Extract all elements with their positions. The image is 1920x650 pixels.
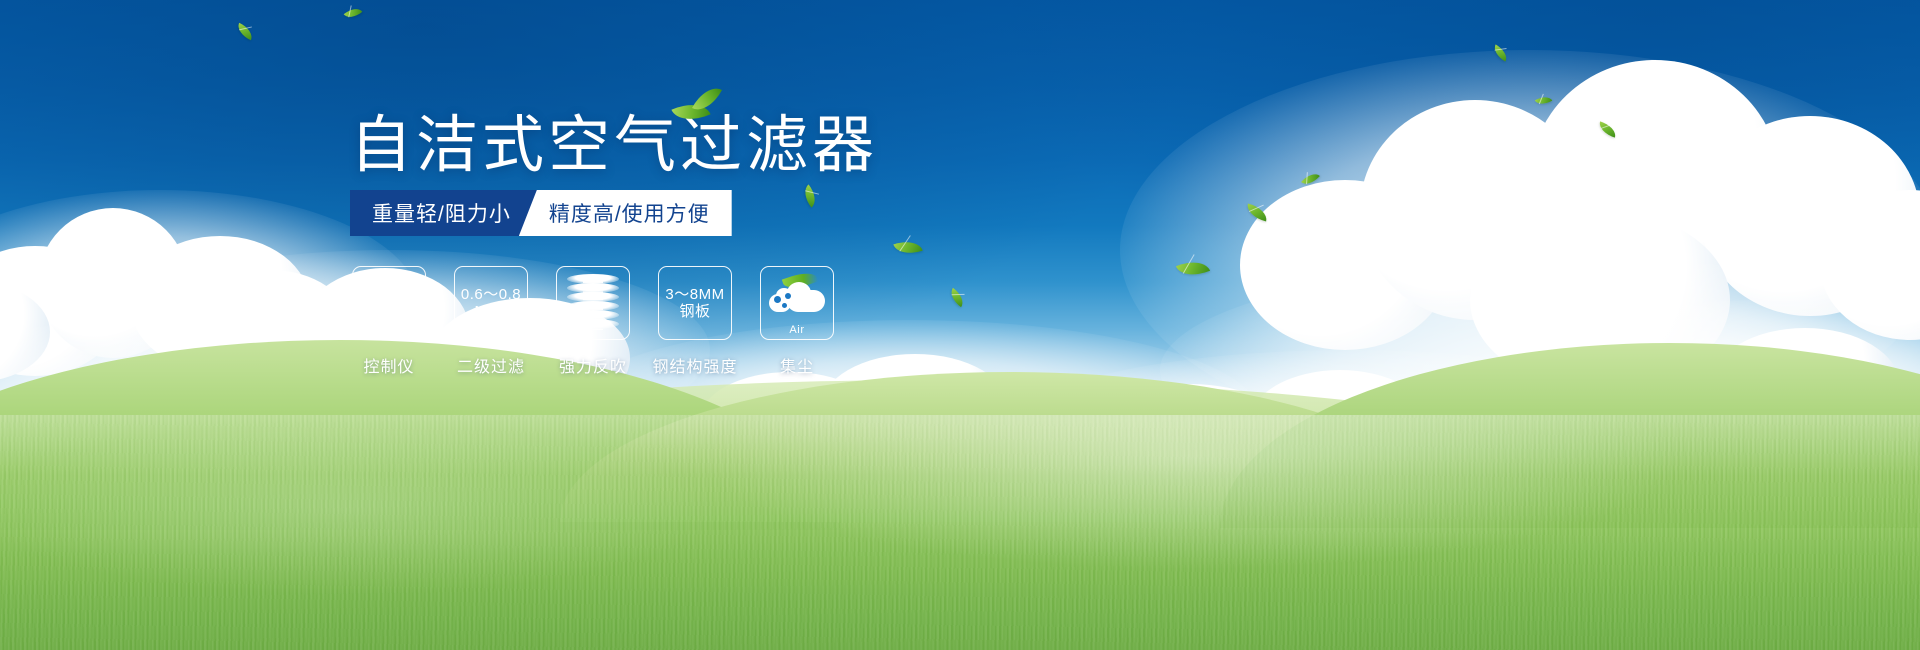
badge-weight-resistance[interactable]: 重量轻/阻力小 [350,190,537,236]
page-title: 自洁式空气过滤器 [350,115,878,177]
gauge-label-off: OFF [407,325,420,331]
feature-item-pressure[interactable]: 0.6～0.8 MPA 二级过滤 [452,266,530,377]
gauge-label-no: NO [359,311,369,317]
filter-cartridge-icon [567,274,619,332]
feature-icon-box: 0.6～0.8 MPA [454,266,528,340]
feature-item-steel[interactable]: 3～8MM 钢板 钢结构强度 [656,266,734,377]
feature-caption: 强力反吹 [559,353,627,377]
badge-precision-convenience[interactable]: 精度高/使用方便 [519,190,732,236]
badge-label: 重量轻/阻力小 [372,198,511,228]
badge-label: 精度高/使用方便 [549,198,710,228]
cloud-air-icon: Air [767,276,827,330]
feature-item-dust[interactable]: Air 集尘 [758,266,836,377]
feature-icon-box: 3～8MM 钢板 [658,266,732,340]
steel-material: 钢板 [665,303,724,320]
title-leaf-icon [672,88,732,132]
feature-icon-box: Air [760,266,834,340]
banner-content: 自洁式空气过滤器 重量轻/阻力小 精度高/使用方便 [0,0,1920,650]
feature-item-controller[interactable]: NO OFF 控制仪 [350,266,428,377]
pressure-text-icon: 0.6～0.8 MPA [461,286,521,320]
steel-plate-text-icon: 3～8MM 钢板 [665,286,724,320]
steel-thickness: 3～8MM [665,286,724,303]
feature-item-backblow[interactable]: 强力反吹 [554,266,632,377]
feature-icon-box: NO OFF [352,266,426,340]
feature-caption: 钢结构强度 [653,353,738,377]
feature-icon-box [556,266,630,340]
pressure-value: 0.6～0.8 [461,286,521,303]
air-label: Air [767,324,827,336]
pressure-unit: MPA [461,303,521,320]
feature-caption: 二级过滤 [457,353,525,377]
feature-caption: 控制仪 [363,353,414,377]
feature-caption: 集尘 [780,353,814,377]
tagline-badges: 重量轻/阻力小 精度高/使用方便 [350,190,732,236]
gauge-dial-icon: NO OFF [360,274,418,332]
feature-list: NO OFF 控制仪 0.6～0.8 MPA 二级过滤 [350,266,836,377]
hero-banner: 自洁式空气过滤器 重量轻/阻力小 精度高/使用方便 [0,0,1920,650]
